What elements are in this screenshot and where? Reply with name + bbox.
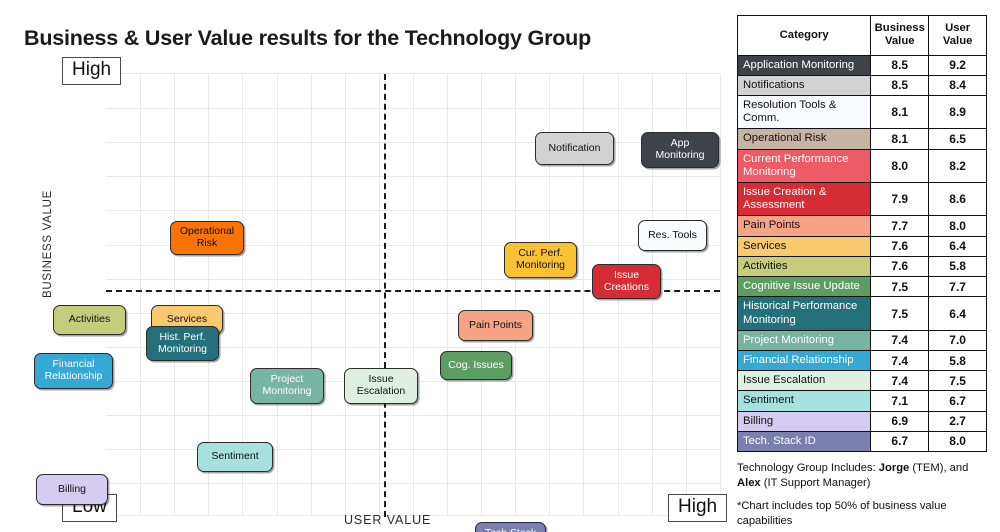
- cell-business-value: 7.4: [871, 371, 929, 391]
- footnote-role-jorge: (TEM), and: [909, 462, 968, 474]
- table-row[interactable]: Cognitive Issue Update7.57.7: [738, 277, 987, 297]
- footnote-prefix: Technology Group Includes:: [737, 462, 879, 474]
- table-row[interactable]: Project Monitoring7.47.0: [738, 330, 987, 350]
- value-table-wrapper: Category Business Value User Value Appli…: [737, 15, 987, 452]
- column-header-business-value: Business Value: [871, 16, 929, 56]
- footnote-role-alex: (IT Support Manager): [761, 477, 871, 489]
- table-row[interactable]: Resolution Tools & Comm.8.18.9: [738, 96, 987, 129]
- bubble-financial-relationship[interactable]: Financial Relationship: [34, 353, 113, 389]
- cell-user-value: 7.5: [929, 371, 987, 391]
- bubble-issue-escalation[interactable]: Issue Escalation: [344, 368, 418, 404]
- bubble-res-tools[interactable]: Res. Tools: [638, 220, 707, 251]
- table-row[interactable]: Tech. Stack ID6.78.0: [738, 431, 987, 451]
- cell-user-value: 8.0: [929, 431, 987, 451]
- table-head: Category Business Value User Value: [738, 16, 987, 56]
- cell-category: Current Performance Monitoring: [738, 149, 871, 182]
- table-row[interactable]: Pain Points7.78.0: [738, 216, 987, 236]
- cell-user-value: 5.8: [929, 256, 987, 276]
- cell-user-value: 8.4: [929, 75, 987, 95]
- cell-user-value: 8.9: [929, 96, 987, 129]
- cell-category: Tech. Stack ID: [738, 431, 871, 451]
- cell-user-value: 9.2: [929, 55, 987, 75]
- gridline-horizontal: [106, 210, 720, 211]
- cell-category: Cognitive Issue Update: [738, 277, 871, 297]
- cell-business-value: 8.5: [871, 55, 929, 75]
- cell-business-value: 8.1: [871, 96, 929, 129]
- axis-label-business-high: High: [62, 57, 121, 85]
- table-row[interactable]: Billing6.92.7: [738, 411, 987, 431]
- cell-user-value: 6.7: [929, 391, 987, 411]
- table-row[interactable]: Sentiment7.16.7: [738, 391, 987, 411]
- footnote-group-members: Technology Group Includes: Jorge (TEM), …: [737, 461, 989, 491]
- column-header-category: Category: [738, 16, 871, 56]
- cell-user-value: 6.4: [929, 236, 987, 256]
- column-header-user-value: User Value: [929, 16, 987, 56]
- table-row[interactable]: Historical Performance Monitoring7.56.4: [738, 297, 987, 330]
- table-row[interactable]: Application Monitoring8.59.2: [738, 55, 987, 75]
- gridline-horizontal: [106, 483, 720, 484]
- cell-category: Pain Points: [738, 216, 871, 236]
- value-table: Category Business Value User Value Appli…: [737, 15, 987, 452]
- bubble-project-monitoring[interactable]: Project Monitoring: [250, 368, 324, 404]
- cell-business-value: 6.9: [871, 411, 929, 431]
- cell-category: Issue Creation & Assessment: [738, 183, 871, 216]
- cell-business-value: 7.5: [871, 297, 929, 330]
- footnote-disclaimer: *Chart includes top 50% of business valu…: [737, 499, 989, 529]
- axis-label-user-high: High: [668, 494, 727, 522]
- cell-user-value: 8.2: [929, 149, 987, 182]
- cell-business-value: 7.7: [871, 216, 929, 236]
- cell-user-value: 5.8: [929, 350, 987, 370]
- gridline-horizontal: [106, 108, 720, 109]
- cell-category: Billing: [738, 411, 871, 431]
- bubble-app-monitoring[interactable]: App Monitoring: [641, 132, 719, 168]
- cell-category: Issue Escalation: [738, 371, 871, 391]
- cell-business-value: 8.0: [871, 149, 929, 182]
- bubble-notification[interactable]: Notification: [535, 132, 614, 165]
- cell-user-value: 7.0: [929, 330, 987, 350]
- table-row[interactable]: Activities7.65.8: [738, 256, 987, 276]
- cell-business-value: 8.5: [871, 75, 929, 95]
- bubble-pain-points[interactable]: Pain Points: [458, 310, 533, 341]
- table-row[interactable]: Services7.66.4: [738, 236, 987, 256]
- midline-vertical: [384, 74, 386, 517]
- table-row[interactable]: Current Performance Monitoring8.08.2: [738, 149, 987, 182]
- footnote-name-alex: Alex: [737, 477, 761, 489]
- gridline-horizontal: [106, 415, 720, 416]
- cell-user-value: 8.0: [929, 216, 987, 236]
- cell-business-value: 7.4: [871, 330, 929, 350]
- scatter-plot-area: NotificationApp MonitoringOperational Ri…: [106, 73, 720, 516]
- x-axis-title: USER VALUE: [344, 513, 431, 527]
- chart-page: Business & User Value results for the Te…: [0, 0, 1000, 532]
- cell-user-value: 6.5: [929, 129, 987, 149]
- cell-business-value: 7.9: [871, 183, 929, 216]
- gridline-horizontal: [106, 142, 720, 143]
- gridline-horizontal: [106, 176, 720, 177]
- table-row[interactable]: Issue Creation & Assessment7.98.6: [738, 183, 987, 216]
- cell-business-value: 7.1: [871, 391, 929, 411]
- bubble-billing[interactable]: Billing: [36, 474, 108, 505]
- cell-business-value: 7.6: [871, 236, 929, 256]
- cell-user-value: 6.4: [929, 297, 987, 330]
- cell-category: Financial Relationship: [738, 350, 871, 370]
- y-axis-title: BUSINESS VALUE: [42, 190, 54, 298]
- page-title: Business & User Value results for the Te…: [24, 26, 591, 51]
- cell-category: Application Monitoring: [738, 55, 871, 75]
- bubble-sentiment[interactable]: Sentiment: [197, 442, 273, 472]
- bubble-hist-perf-monitoring[interactable]: Hist. Perf. Monitoring: [146, 326, 219, 361]
- bubble-activities[interactable]: Activities: [53, 305, 126, 335]
- cell-category: Notifications: [738, 75, 871, 95]
- cell-category: Operational Risk: [738, 129, 871, 149]
- cell-category: Sentiment: [738, 391, 871, 411]
- table-row[interactable]: Operational Risk8.16.5: [738, 129, 987, 149]
- cell-user-value: 8.6: [929, 183, 987, 216]
- cell-category: Project Monitoring: [738, 330, 871, 350]
- cell-user-value: 7.7: [929, 277, 987, 297]
- bubble-issue-creations[interactable]: Issue Creations: [592, 264, 661, 299]
- cell-category: Services: [738, 236, 871, 256]
- cell-business-value: 6.7: [871, 431, 929, 451]
- cell-category: Historical Performance Monitoring: [738, 297, 871, 330]
- table-row[interactable]: Notifications8.58.4: [738, 75, 987, 95]
- table-body: Application Monitoring8.59.2Notification…: [738, 55, 987, 451]
- cell-business-value: 7.6: [871, 256, 929, 276]
- cell-business-value: 8.1: [871, 129, 929, 149]
- cell-category: Activities: [738, 256, 871, 276]
- cell-business-value: 7.4: [871, 350, 929, 370]
- table-row[interactable]: Issue Escalation7.47.5: [738, 371, 987, 391]
- cell-category: Resolution Tools & Comm.: [738, 96, 871, 129]
- bubble-operational-risk[interactable]: Operational Risk: [170, 221, 244, 255]
- gridline-vertical: [720, 74, 721, 515]
- table-header-row: Category Business Value User Value: [738, 16, 987, 56]
- bubble-tech-stack-id[interactable]: Tech Stack ID: [475, 522, 546, 532]
- bubble-cur-perf-monitoring[interactable]: Cur. Perf. Monitoring: [504, 242, 577, 278]
- bubble-cog-issues[interactable]: Cog. Issues: [440, 351, 512, 380]
- footnote-name-jorge: Jorge: [879, 462, 909, 474]
- cell-business-value: 7.5: [871, 277, 929, 297]
- cell-user-value: 2.7: [929, 411, 987, 431]
- table-row[interactable]: Financial Relationship7.45.8: [738, 350, 987, 370]
